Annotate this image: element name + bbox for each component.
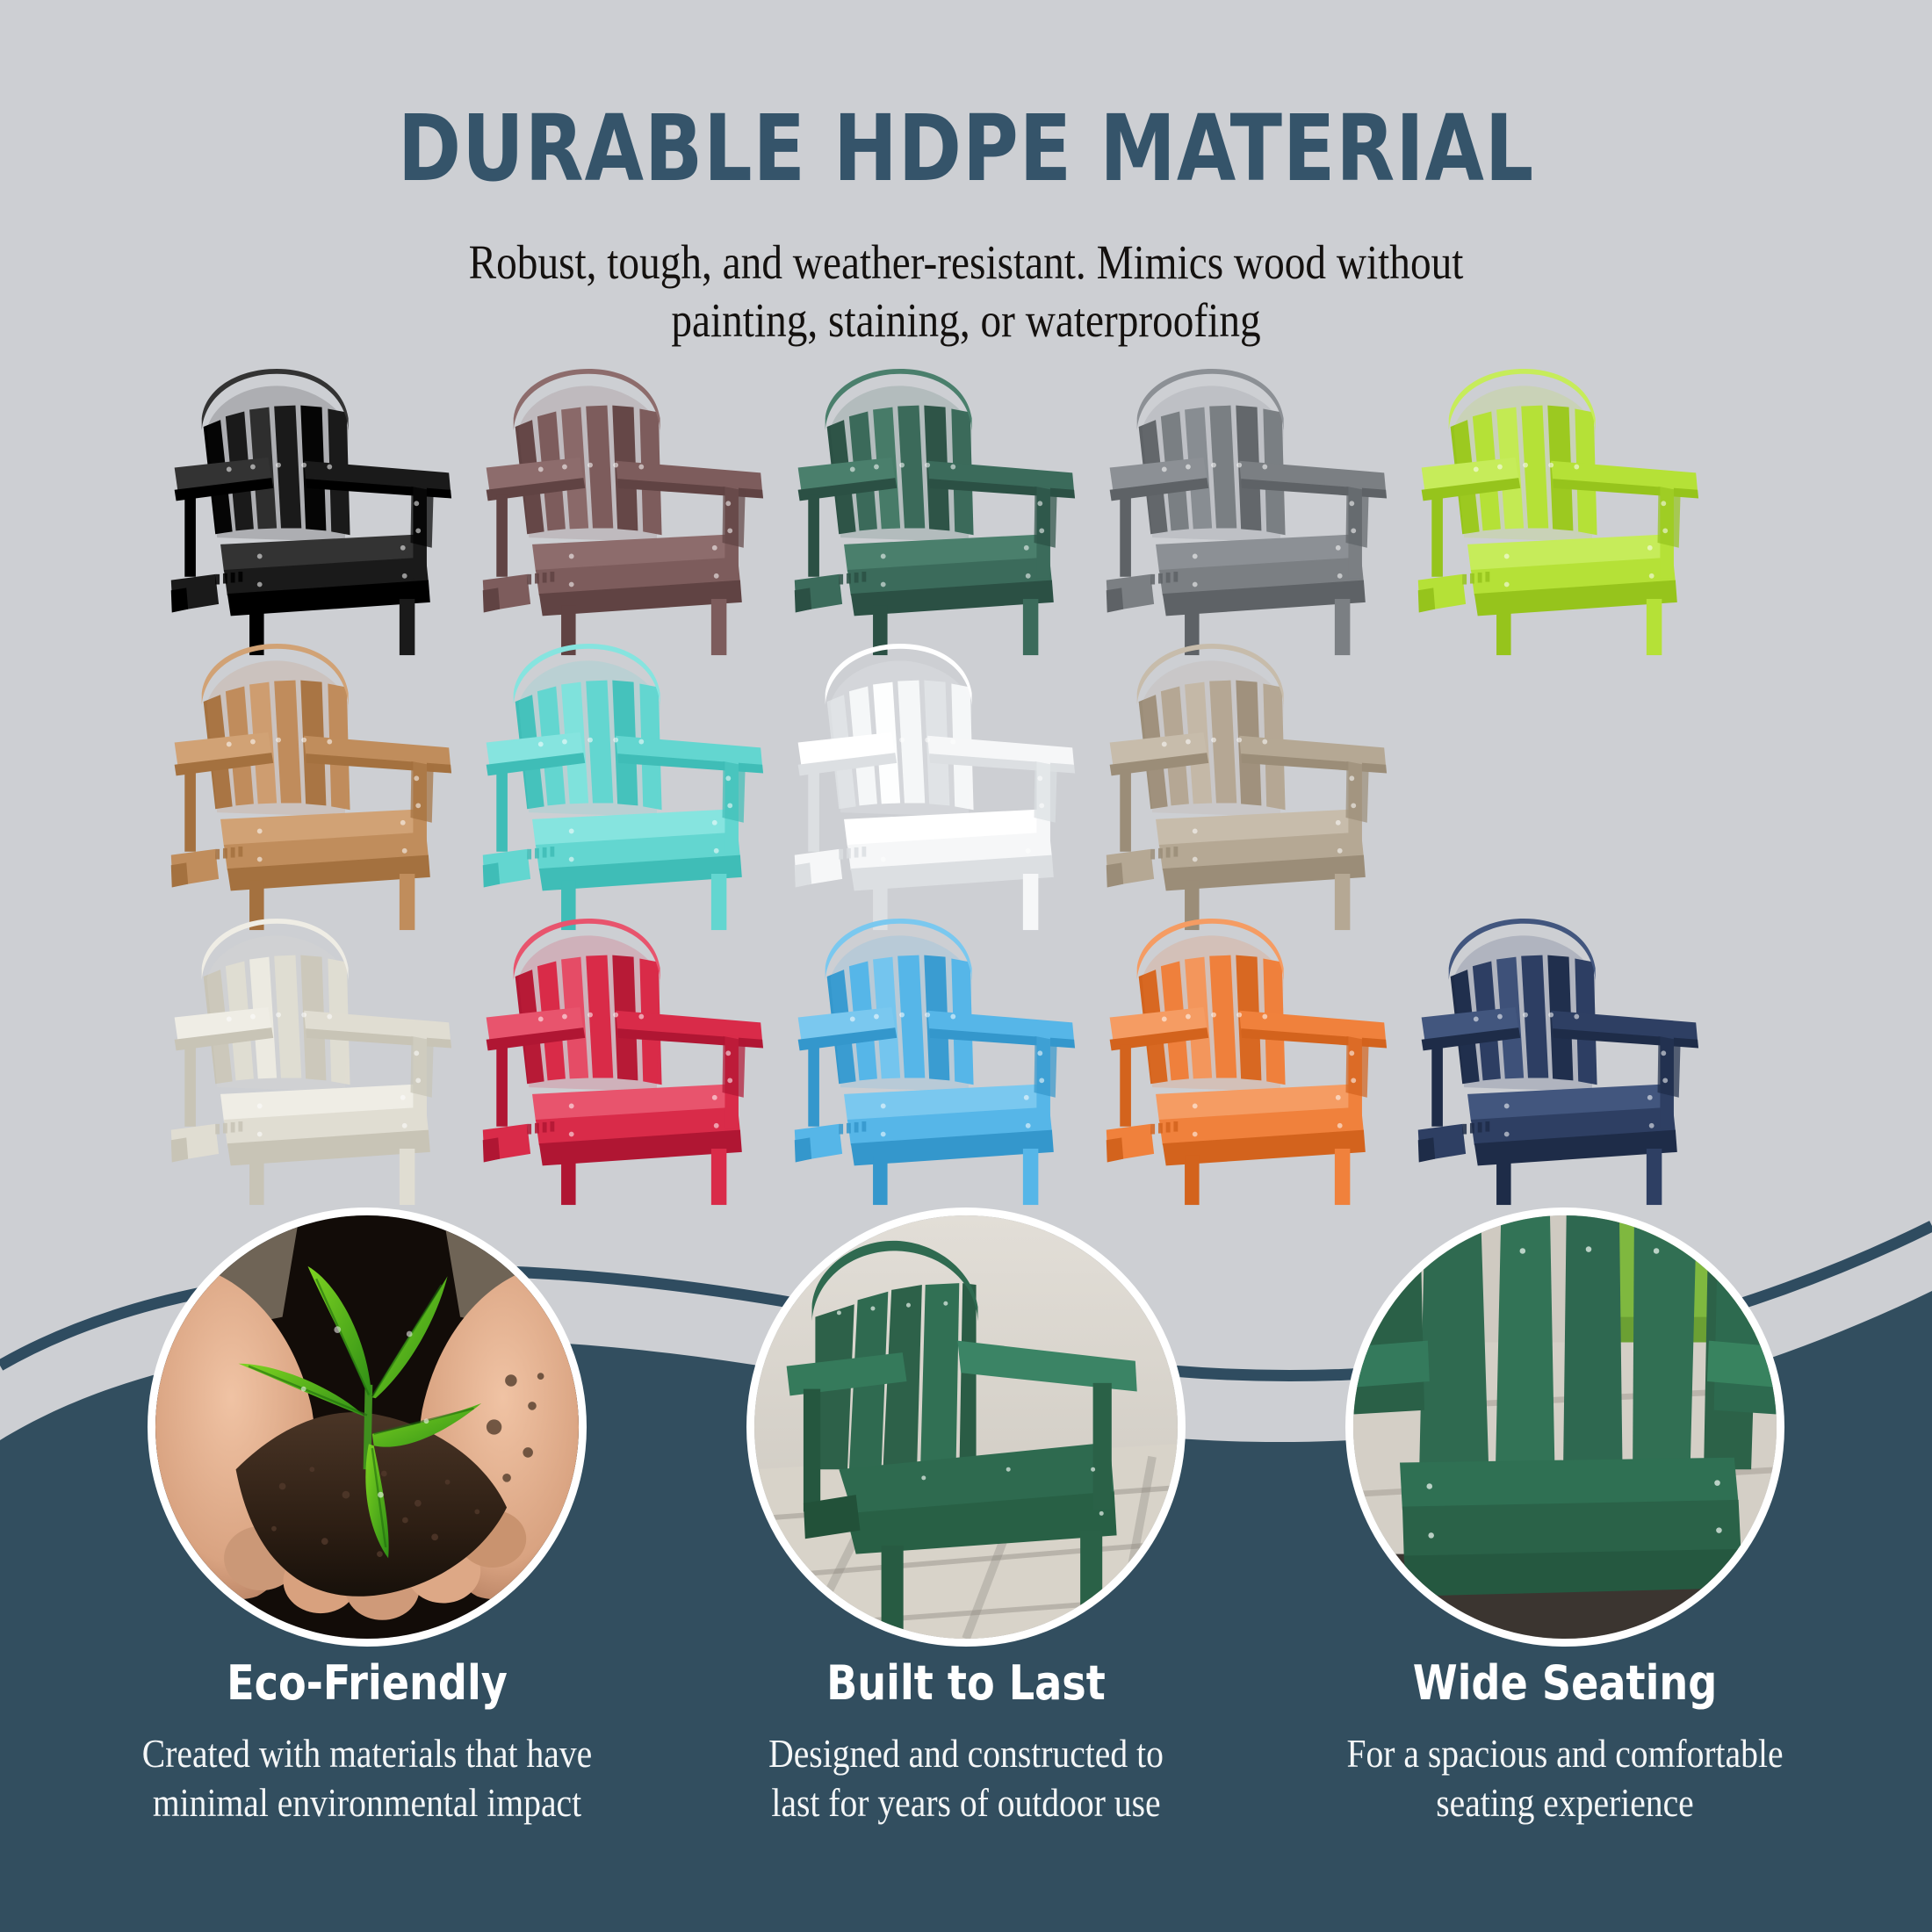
hands-holding-seedling-icon xyxy=(155,1215,579,1639)
feature-caption-wide-seating: Wide Seating For a spacious and comforta… xyxy=(1275,1655,1855,1828)
chair-row xyxy=(0,367,1932,642)
feature-desc-line-2: minimal environmental impact xyxy=(112,1779,623,1828)
chair-swatch[interactable] xyxy=(162,367,514,657)
chair-swatch[interactable] xyxy=(1409,367,1761,657)
chair-swatch[interactable] xyxy=(1098,367,1449,657)
chair-swatch[interactable] xyxy=(1098,917,1449,1207)
feature-desc-line-2: seating experience xyxy=(1310,1779,1820,1828)
adirondack-chair-illustration xyxy=(786,367,1137,657)
chair-swatch[interactable] xyxy=(786,917,1137,1207)
chair-wide-seat-closeup-icon xyxy=(1353,1215,1777,1639)
chair-color-grid xyxy=(0,367,1932,1192)
adirondack-chair-illustration xyxy=(474,367,825,657)
subtitle-line-2: painting, staining, or waterproofing xyxy=(135,292,1797,350)
feature-desc-line-1: For a spacious and comfortable xyxy=(1310,1730,1820,1779)
subtitle-line-1: Robust, tough, and weather-resistant. Mi… xyxy=(135,234,1797,292)
adirondack-chair-illustration xyxy=(162,642,514,932)
chair-swatch[interactable] xyxy=(1409,917,1761,1207)
page-title: DURABLE HDPE MATERIAL xyxy=(68,95,1864,202)
chair-swatch[interactable] xyxy=(474,367,825,657)
adirondack-chair-illustration xyxy=(1409,917,1761,1207)
feature-title: Eco-Friendly xyxy=(92,1655,643,1711)
chair-row xyxy=(0,917,1932,1192)
feature-photo-row xyxy=(0,1207,1932,1664)
chair-swatch[interactable] xyxy=(474,917,825,1207)
adirondack-chair-illustration xyxy=(162,367,514,657)
feature-caption-eco-friendly: Eco-Friendly Created with materials that… xyxy=(77,1655,657,1828)
feature-description: Created with materials that have minimal… xyxy=(112,1730,623,1828)
adirondack-chair-illustration xyxy=(1098,917,1449,1207)
feature-desc-line-1: Created with materials that have xyxy=(112,1730,623,1779)
feature-photo-built-to-last xyxy=(746,1207,1186,1647)
chair-swatch[interactable] xyxy=(474,642,825,932)
chair-swatch[interactable] xyxy=(786,367,1137,657)
adirondack-chair-illustration xyxy=(474,917,825,1207)
adirondack-chair-illustration xyxy=(786,642,1137,932)
feature-title: Wide Seating xyxy=(1290,1655,1841,1711)
adirondack-chair-illustration xyxy=(1098,642,1449,932)
chair-swatch[interactable] xyxy=(162,917,514,1207)
feature-photo-eco-friendly xyxy=(148,1207,587,1647)
feature-description: Designed and constructed to last for yea… xyxy=(711,1730,1222,1828)
adirondack-chair-illustration xyxy=(162,917,514,1207)
chair-row xyxy=(0,642,1932,917)
header: DURABLE HDPE MATERIAL Robust, tough, and… xyxy=(0,0,1932,350)
feature-desc-line-2: last for years of outdoor use xyxy=(711,1779,1222,1828)
chair-swatch[interactable] xyxy=(786,642,1137,932)
feature-caption-built-to-last: Built to Last Designed and constructed t… xyxy=(676,1655,1256,1828)
adirondack-chair-illustration xyxy=(786,917,1137,1207)
chair-swatch[interactable] xyxy=(1098,642,1449,932)
feature-title: Built to Last xyxy=(691,1655,1242,1711)
feature-description: For a spacious and comfortable seating e… xyxy=(1310,1730,1820,1828)
feature-desc-line-1: Designed and constructed to xyxy=(711,1730,1222,1779)
chair-swatch[interactable] xyxy=(162,642,514,932)
feature-photo-wide-seating xyxy=(1345,1207,1784,1647)
green-chair-on-patio-icon xyxy=(754,1215,1178,1639)
adirondack-chair-illustration xyxy=(474,642,825,932)
page-subtitle: Robust, tough, and weather-resistant. Mi… xyxy=(135,234,1797,350)
adirondack-chair-illustration xyxy=(1409,367,1761,657)
adirondack-chair-illustration xyxy=(1098,367,1449,657)
